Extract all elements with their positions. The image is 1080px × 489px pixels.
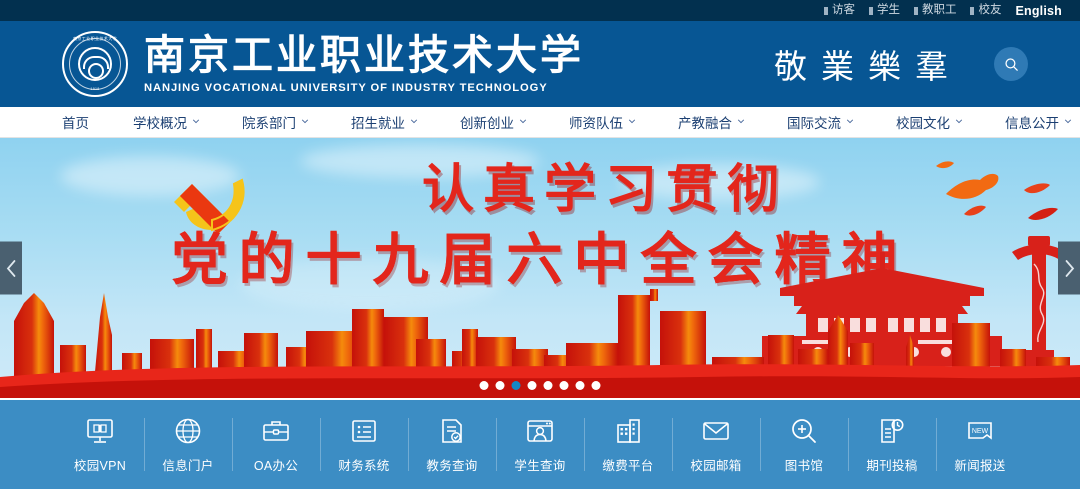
quicklink-label: 图书馆: [785, 455, 823, 474]
top-utility-links: 访客 学生 教职工 校友 English: [824, 4, 1062, 18]
globe-icon: [173, 416, 203, 446]
carousel-dot[interactable]: [480, 381, 489, 390]
document-clock-icon: [877, 416, 907, 446]
nav-item-faculty[interactable]: 师资队伍: [569, 112, 636, 132]
quicklink-news-submission[interactable]: NEW 新闻报送: [936, 400, 1024, 489]
nav-item-departments[interactable]: 院系部门: [242, 112, 309, 132]
carousel-prev-button[interactable]: [0, 242, 22, 295]
nav-item-label: 国际交流: [787, 112, 841, 132]
chevron-right-icon: [1064, 259, 1075, 277]
quicklink-library[interactable]: 图书馆: [760, 400, 848, 489]
quicklink-oa-office[interactable]: OA办公: [232, 400, 320, 489]
site-header: 南京工业职业技术大学 1918 南京工业职业技术大学 NANJING VOCAT…: [0, 21, 1080, 107]
nav-item-label: 校园文化: [896, 112, 950, 132]
svg-text:NEW: NEW: [972, 428, 989, 435]
quicklink-campus-vpn[interactable]: 校园VPN: [56, 400, 144, 489]
nav-item-label: 师资队伍: [569, 112, 623, 132]
bullet-square-icon: [970, 7, 974, 15]
emblem-year-text: 1918: [64, 87, 126, 91]
chevron-down-icon: [192, 117, 200, 125]
quicklink-label: 教务查询: [426, 455, 477, 474]
building-icon: [613, 416, 643, 446]
page-root: 访客 学生 教职工 校友 English 南京工业职业技术大学 1: [0, 0, 1080, 489]
top-link-visitor[interactable]: 访客: [824, 5, 855, 17]
nav-item-admissions[interactable]: 招生就业: [351, 112, 418, 132]
nav-item-label: 创新创业: [460, 112, 514, 132]
main-navigation: 首页 学校概况 院系部门 招生就业 创新创业 师资队伍 产教融合 国际交流: [0, 107, 1080, 138]
nav-item-international[interactable]: 国际交流: [787, 112, 854, 132]
envelope-icon: [701, 416, 731, 446]
nav-item-label: 学校概况: [133, 112, 187, 132]
list-document-icon: [349, 416, 379, 446]
carousel-dot-active[interactable]: [512, 381, 521, 390]
cloud-decoration: [620, 164, 820, 200]
user-window-icon: [525, 416, 555, 446]
nav-item-overview[interactable]: 学校概况: [133, 112, 200, 132]
quicklink-academic-query[interactable]: 教务查询: [408, 400, 496, 489]
carousel-dots: [480, 381, 601, 390]
top-link-student[interactable]: 学生: [869, 5, 900, 17]
quicklink-campus-mail[interactable]: 校园邮箱: [672, 400, 760, 489]
city-skyline-decoration: [0, 273, 1080, 398]
nav-item-information-disclosure[interactable]: 信息公开: [1005, 112, 1072, 132]
top-link-english[interactable]: English: [1015, 4, 1062, 18]
emblem-center-mark: [78, 47, 112, 81]
quicklink-label: 新闻报送: [954, 455, 1005, 474]
quick-links-bar: 校园VPN 信息门户 OA办公: [0, 400, 1080, 489]
chevron-left-icon: [6, 259, 17, 277]
top-link-label: 访客: [832, 5, 855, 17]
magnifier-plus-icon: [789, 416, 819, 446]
top-link-label: 校友: [978, 5, 1001, 17]
emblem-ring-text: 南京工业职业技术大学: [64, 36, 126, 42]
quicklink-finance-system[interactable]: 财务系统: [320, 400, 408, 489]
nav-item-campus-culture[interactable]: 校园文化: [896, 112, 963, 132]
cloud-decoration: [300, 144, 540, 178]
top-link-label: 学生: [877, 5, 900, 17]
carousel-dot[interactable]: [528, 381, 537, 390]
chevron-down-icon: [301, 117, 309, 125]
bullet-square-icon: [914, 7, 918, 15]
quicklink-student-query[interactable]: 学生查询: [496, 400, 584, 489]
quicklink-label: 校园邮箱: [690, 455, 741, 474]
carousel-dot[interactable]: [544, 381, 553, 390]
chevron-down-icon: [519, 117, 527, 125]
quicklink-payment-platform[interactable]: 缴费平台: [584, 400, 672, 489]
search-button[interactable]: [994, 47, 1028, 81]
nav-item-label: 院系部门: [242, 112, 296, 132]
bullet-square-icon: [869, 7, 873, 15]
nav-item-label: 首页: [62, 112, 89, 132]
chevron-down-icon: [846, 117, 854, 125]
quicklink-label: 财务系统: [338, 455, 389, 474]
carousel-dot[interactable]: [576, 381, 585, 390]
monitor-book-icon: [85, 416, 115, 446]
chevron-down-icon: [410, 117, 418, 125]
chevron-down-icon: [955, 117, 963, 125]
university-name-en: NANJING VOCATIONAL UNIVERSITY OF INDUSTR…: [144, 82, 584, 94]
university-emblem-icon: 南京工业职业技术大学 1918: [62, 31, 128, 97]
top-link-alumni[interactable]: 校友: [970, 5, 1001, 17]
chevron-down-icon: [628, 117, 636, 125]
nav-item-label: 招生就业: [351, 112, 405, 132]
quicklink-label: OA办公: [254, 455, 298, 474]
search-icon: [1003, 56, 1020, 73]
brand-block[interactable]: 南京工业职业技术大学 1918 南京工业职业技术大学 NANJING VOCAT…: [0, 31, 584, 97]
nav-item-label: 产教融合: [678, 112, 732, 132]
quicklink-journal-submission[interactable]: 期刊投稿: [848, 400, 936, 489]
chevron-down-icon: [1064, 117, 1072, 125]
carousel-dot[interactable]: [592, 381, 601, 390]
chevron-down-icon: [737, 117, 745, 125]
carousel-next-button[interactable]: [1058, 242, 1080, 295]
quicklink-label: 校园VPN: [74, 455, 126, 474]
bullet-square-icon: [824, 7, 828, 15]
nav-item-innovation[interactable]: 创新创业: [460, 112, 527, 132]
quicklink-label: 学生查询: [514, 455, 565, 474]
hero-carousel: 认真学习贯彻 党的十九届六中全会精神: [0, 138, 1080, 398]
nav-item-home[interactable]: 首页: [62, 112, 89, 132]
brand-titles: 南京工业职业技术大学 NANJING VOCATIONAL UNIVERSITY…: [144, 35, 584, 94]
quicklink-label: 信息门户: [162, 455, 213, 474]
hammer-and-sickle-icon: [162, 168, 270, 256]
nav-item-industry-education[interactable]: 产教融合: [678, 112, 745, 132]
quicklink-label: 期刊投稿: [866, 455, 917, 474]
university-name-cn: 南京工业职业技术大学: [144, 35, 584, 76]
nav-item-label: 信息公开: [1005, 112, 1059, 132]
carousel-dot[interactable]: [496, 381, 505, 390]
quicklink-label: 缴费平台: [602, 455, 653, 474]
quicklink-info-portal[interactable]: 信息门户: [144, 400, 232, 489]
document-check-icon: [437, 416, 467, 446]
top-link-staff[interactable]: 教职工: [914, 5, 957, 17]
briefcase-icon: [261, 416, 291, 446]
motto-calligraphy: 敬業樂羣: [774, 40, 962, 88]
top-utility-bar: 访客 学生 教职工 校友 English: [0, 0, 1080, 21]
news-banner-icon: NEW: [965, 416, 995, 446]
carousel-dot[interactable]: [560, 381, 569, 390]
top-link-label: 教职工: [922, 5, 957, 17]
